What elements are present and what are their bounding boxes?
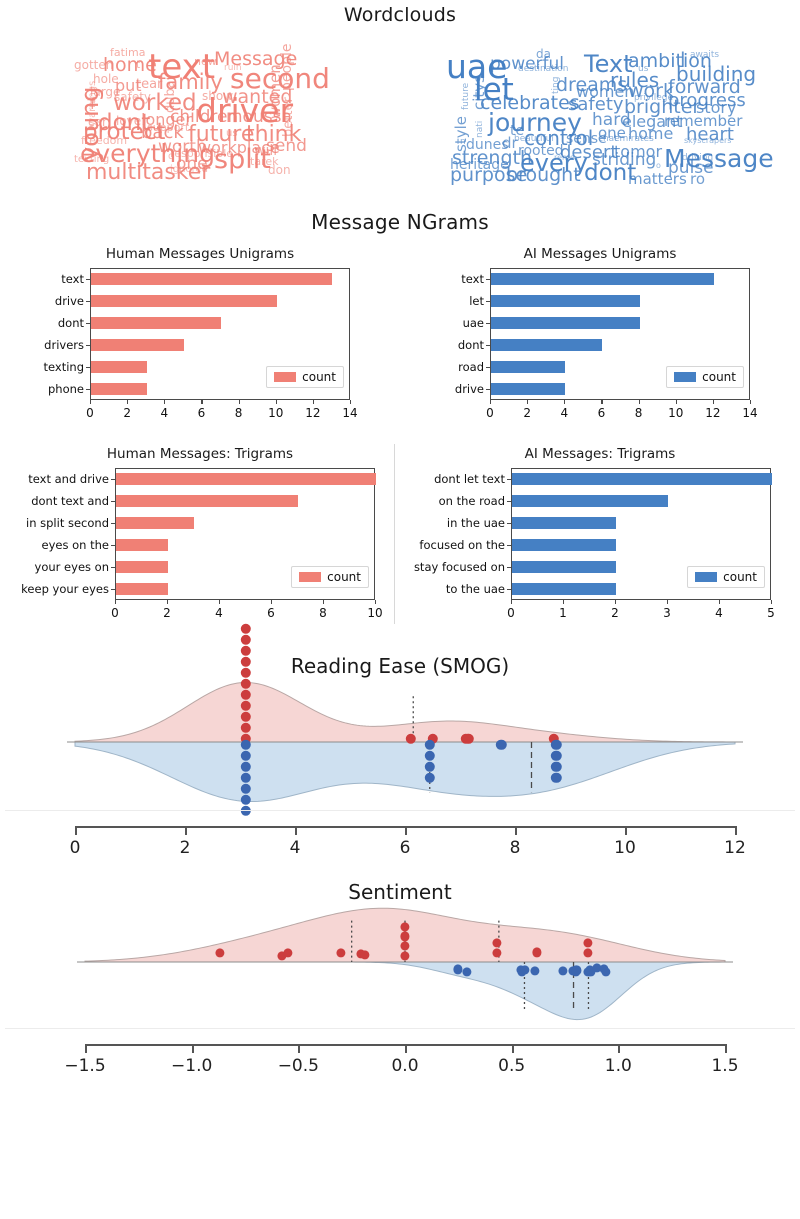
x-tick-label: 10 [367,606,382,620]
bar [91,339,184,350]
x-tick [563,600,564,604]
bar-plot: text and drivedont text andin split seco… [7,466,393,626]
wordcloud-word: dubai [164,77,177,113]
bar-category-label: text [32,272,84,286]
x-axis-tick [512,1044,514,1053]
bar-category-label: texting [32,360,84,374]
x-tick-label: 14 [342,406,357,420]
reading-ease-section: Reading Ease (SMOG) 024681012 [0,654,800,866]
x-axis-tick [298,1044,300,1053]
x-tick-label: 1 [559,606,567,620]
chart-ai-unigrams: AI Messages Unigrams textletuaedontroadd… [400,240,800,428]
wordcloud-word: matters [628,172,687,187]
wordcloud-word: don [268,164,291,176]
wordcloud-word: style [454,116,469,152]
x-tick-label: 12 [305,406,320,420]
x-tick [490,400,491,404]
wordcloud-word: future [462,83,471,110]
chart-title: Human Messages: Trigrams [0,446,400,462]
x-tick-label: 4 [160,406,168,420]
x-tick [271,600,272,604]
x-axis-tick [405,1044,407,1053]
x-tick-label: 2 [611,606,619,620]
x-tick-label: 10 [268,406,283,420]
violin-density-human [75,682,735,742]
data-point [240,624,250,634]
bar-category-label: drivers [32,338,84,352]
x-tick-label: 0 [507,606,515,620]
x-tick-label: 3 [663,606,671,620]
x-axis-tick [725,1044,727,1053]
bar [116,495,298,506]
bar-category-label: drive [32,294,84,308]
y-tick [507,501,511,502]
wordcloud-word: remember [664,114,742,129]
x-tick [375,600,376,604]
legend[interactable]: count [291,566,369,588]
x-tick [323,600,324,604]
wordcloud-word: skyscrapers [684,137,731,145]
x-axis-label: 1.5 [711,1056,738,1076]
reading-ease-title: Reading Ease (SMOG) [0,654,800,678]
x-tick [771,600,772,604]
wordcloud-word: heritage [450,158,509,172]
chart-human-unigrams: Human Messages Unigrams textdrivedontdri… [0,240,400,428]
wordcloud-word: t [136,59,140,70]
legend[interactable]: count [666,366,744,388]
x-tick [667,600,668,604]
x-axis-label: 12 [724,838,746,858]
x-tick [719,600,720,604]
wordcloud-word: reme [554,154,575,162]
bar [491,383,565,394]
chart-human-trigrams: Human Messages: Trigrams text and drived… [0,440,400,628]
y-tick [86,389,90,390]
wordcloud-word: ro [690,172,705,187]
violin-plot: −1.5−1.0−0.50.00.51.01.5 [5,906,795,1084]
y-tick [486,367,490,368]
wordcloud-word: love [116,115,141,127]
x-tick-label: 2 [523,406,531,420]
bar [491,295,640,306]
wordcloud-word: d [168,152,174,162]
bar [512,517,616,528]
violin-density-ai [85,962,725,1020]
wordcloud-word: citys [472,75,487,110]
bar-category-label: text and drive [7,472,109,486]
y-tick [111,589,115,590]
violin-plot: 024681012 [5,680,795,866]
x-axis-label: 0.0 [391,1056,418,1076]
sentiment-title: Sentiment [0,880,800,904]
y-tick [486,389,490,390]
legend-swatch [299,572,321,582]
sentiment-section: Sentiment −1.5−1.0−0.50.00.51.01.5 [0,880,800,1084]
x-tick-label: 4 [715,606,723,620]
bar [116,561,168,572]
x-tick-label: 8 [235,406,243,420]
x-tick [167,600,168,604]
y-tick [111,567,115,568]
bar-category-label: focused on the [411,538,505,552]
wordcloud-word: beautiful [514,135,554,144]
plot-bottom-rule [5,1028,795,1029]
bar-category-label: your eyes on [7,560,109,574]
x-tick [713,400,714,404]
x-tick [511,600,512,604]
bar-plot: textletuaedontroaddrive02468101214count [432,266,768,426]
wordcloud-word: new [194,56,217,67]
y-tick [486,323,490,324]
legend[interactable]: count [687,566,765,588]
wordcloud-word: texting [74,155,109,165]
ngrams-title: Message NGrams [0,210,800,234]
x-tick [127,400,128,404]
x-tick-label: 8 [319,606,327,620]
bar [116,539,168,550]
y-tick [86,301,90,302]
wordcloud-word: destination [518,65,568,74]
wordcloud-word: show [202,90,233,102]
x-axis-label: 4 [290,838,301,858]
x-tick [276,400,277,404]
x-axis-tick [295,826,297,835]
bar-category-label: dont text and [7,494,109,508]
x-tick [164,400,165,404]
x-axis-label: 2 [180,838,191,858]
y-tick [486,345,490,346]
bar-plot: dont let texton the roadin the uaefocuse… [411,466,789,626]
y-tick [486,301,490,302]
bar [91,383,147,394]
violin-density-ai [75,742,735,802]
wordcloud-word: ting [552,77,561,94]
bar [512,473,772,484]
x-axis-label: 8 [510,838,521,858]
bar-category-label: stay focused on [411,560,505,574]
wordcloud-word: tomor [614,144,662,160]
bar-category-label: phone [32,382,84,396]
wordcloud-word: women [576,84,634,100]
y-tick [111,479,115,480]
x-axis-label: −1.0 [171,1056,212,1076]
wordcloud-word: emirates [614,135,654,144]
x-axis-tick [192,1044,194,1053]
bar [491,339,602,350]
x-axis-label: 1.0 [605,1056,632,1076]
bar [512,495,668,506]
bar [91,295,277,306]
wordcloud-word: safety [114,91,151,103]
legend-swatch [695,572,717,582]
wordcloud-word: fatima [110,47,145,58]
wordcloud-word: celebrates [480,94,580,113]
bar-category-label: dont [432,338,484,352]
wordcloud-word: us [638,65,648,74]
bar-category-label: uae [432,316,484,330]
human-wordcloud: textdriversecondeverythingsplitprotectmu… [18,34,368,204]
x-tick-label: 14 [742,406,757,420]
y-tick [86,323,90,324]
x-tick-label: 4 [560,406,568,420]
chart-title: AI Messages: Trigrams [400,446,800,462]
wordcloud-word: support [147,122,189,133]
x-tick [90,400,91,404]
plot-bottom-rule [5,810,795,811]
legend-label: count [723,570,757,584]
y-tick [507,567,511,568]
x-axis-tick [625,826,627,835]
bar-category-label: dont [32,316,84,330]
x-tick [219,600,220,604]
x-axis-tick [735,826,737,835]
chart-title: AI Messages Unigrams [400,246,800,262]
bar [116,517,194,528]
bar [491,317,640,328]
chart-ai-trigrams: AI Messages: Trigrams dont let texton th… [400,440,800,628]
x-tick-label: 10 [668,406,683,420]
ngrams-section: Message NGrams Human Messages Unigrams t… [0,210,800,628]
x-tick-label: 2 [123,406,131,420]
x-tick-label: 0 [486,406,494,420]
x-tick [115,600,116,604]
wordcloud-word: responsible [170,148,233,159]
wordcloud-word: will [254,144,277,158]
x-tick-label: 4 [215,606,223,620]
bar-plot: textdrivedontdriverstextingphone02468101… [32,266,368,426]
y-tick [507,523,511,524]
y-tick [86,367,90,368]
x-tick-label: 12 [705,406,720,420]
legend-label: count [702,370,736,384]
bar [116,583,168,594]
x-axis-label: 0 [70,838,81,858]
bar-category-label: drive [432,382,484,396]
wordcloud-word: better [282,97,295,137]
x-tick [564,400,565,404]
x-axis-label: −1.5 [64,1056,105,1076]
x-tick-label: 6 [267,606,275,620]
wordclouds-section: Wordclouds textdriversecondeverythingspl… [0,0,800,204]
legend-label: count [302,370,336,384]
x-tick [601,400,602,404]
wordcloud-word: gotten [74,59,113,71]
x-tick-label: 0 [86,406,94,420]
legend-swatch [274,372,296,382]
y-tick [486,279,490,280]
wordcloud-word: ignored [170,165,208,175]
wordcloud-word: privilege [634,94,673,103]
x-axis-label: 6 [400,838,411,858]
wordcloud-word: da [536,48,551,60]
bar [491,361,565,372]
bar [512,539,616,550]
x-tick-label: 8 [635,406,643,420]
y-tick [111,545,115,546]
ai-wordcloud: uaeletjourneyMessageeveryTextdontcelebra… [432,34,782,204]
x-tick [201,400,202,404]
wordcloud-word: o [656,162,661,170]
wordcloud-word: driving [682,154,713,163]
x-axis-tick [185,826,187,835]
bar [91,273,332,284]
y-tick [507,545,511,546]
x-tick-label: 6 [598,406,606,420]
bar-category-label: road [432,360,484,374]
wordcloud-word: awaits [690,51,719,60]
bar-category-label: in the uae [411,516,505,530]
x-axis-tick [618,1044,620,1053]
y-tick [507,589,511,590]
y-tick [86,279,90,280]
legend-swatch [674,372,696,382]
x-axis-tick [515,826,517,835]
chart-title: Human Messages Unigrams [0,246,400,262]
wordcloud-word: freedom [81,135,127,146]
bar-category-label: keep your eyes [7,582,109,596]
bar-category-label: on the road [411,494,505,508]
wordcloud-word: warnings [88,81,98,126]
data-point [240,635,250,645]
bar-category-label: to the uae [411,582,505,596]
x-tick [615,600,616,604]
bar-category-label: dont let text [411,472,505,486]
wordcloud-word: us [226,129,238,139]
x-tick [239,400,240,404]
bar [512,583,616,594]
x-tick [527,400,528,404]
x-tick [313,400,314,404]
y-tick [111,501,115,502]
x-tick-label: 5 [767,606,775,620]
legend[interactable]: count [266,366,344,388]
bar [491,273,714,284]
x-axis-tick [75,826,77,835]
bar [91,361,147,372]
wordclouds-title: Wordclouds [0,4,800,26]
x-axis-tick [405,826,407,835]
x-tick-label: 6 [198,406,206,420]
wordcloud-word: nati [476,121,485,138]
bar [91,317,221,328]
x-tick [350,400,351,404]
bar-category-label: eyes on the [7,538,109,552]
x-axis-label: −0.5 [278,1056,319,1076]
x-axis-label: 0.5 [498,1056,525,1076]
x-tick [750,400,751,404]
y-tick [86,345,90,346]
wordcloud-word: brought [506,166,581,185]
x-axis-tick [85,1044,87,1053]
x-tick-label: 2 [163,606,171,620]
x-axis-label: 10 [614,838,636,858]
y-tick [507,479,511,480]
bar-category-label: in split second [7,516,109,530]
y-tick [111,523,115,524]
x-tick [639,400,640,404]
x-tick [676,400,677,404]
bar-category-label: text [432,272,484,286]
wordcloud-word: l [680,50,686,70]
bar [116,473,376,484]
legend-label: count [327,570,361,584]
bar-category-label: let [432,294,484,308]
bar [512,561,616,572]
x-tick-label: 0 [111,606,119,620]
wordcloud-word: ruin [224,64,242,73]
